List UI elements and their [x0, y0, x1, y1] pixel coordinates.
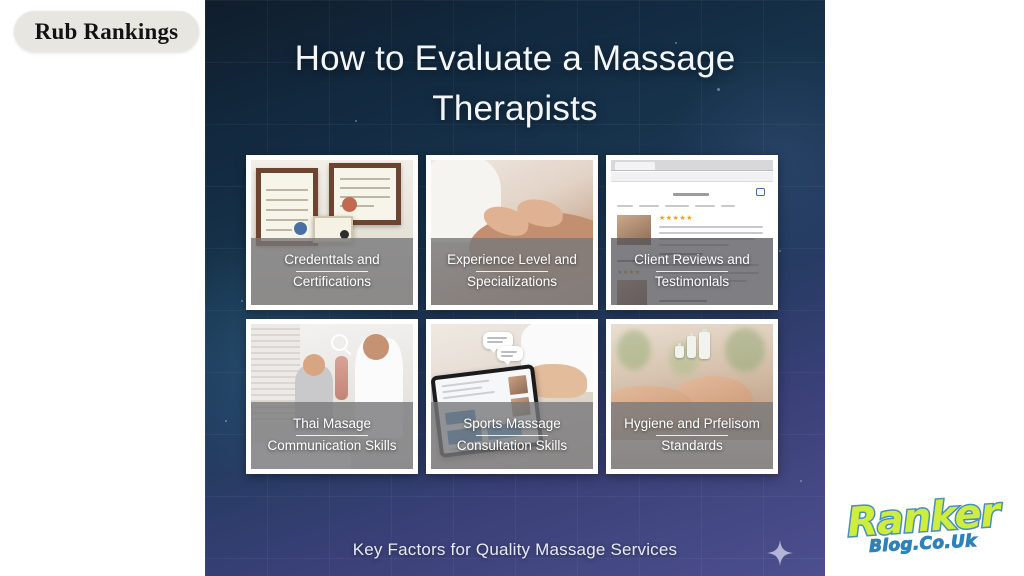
card-caption: Client Reviews and Testimonlals [611, 238, 773, 305]
card-hygiene[interactable]: Hygiene and Prfelisom Standards [606, 319, 778, 474]
anatomy-chart-icon [335, 356, 348, 400]
slide-panel: How to Evaluate a Massage Therapists [205, 0, 825, 576]
card-reviews[interactable]: ★★★★★ ★★★★ Client Reviews and [606, 155, 778, 310]
card-caption: Thai Masage Communication Skills [251, 402, 413, 469]
browser-addressbar[interactable] [611, 172, 773, 182]
watermark-subtitle: Blog.Co.Uk [869, 532, 978, 558]
spa-bottle-icon [699, 332, 710, 359]
search-icon [331, 334, 348, 351]
certificate-frame [256, 168, 318, 246]
card-consultation[interactable]: Sports Massage Consultation Skills [426, 319, 598, 474]
chat-bubble [497, 346, 523, 361]
star-rating: ★★★★★ [659, 215, 693, 222]
caption-divider [656, 271, 728, 273]
card-image-massage-hands: Experience Level and Specializations [431, 160, 593, 305]
caption-line-2: Communication Skills [267, 439, 396, 454]
card-caption: Hygiene and Prfelisom Standards [611, 402, 773, 469]
particle-dot [800, 480, 802, 482]
caption-line-1: Credenttals and [284, 253, 379, 268]
caption-divider [296, 435, 368, 437]
brand-badge: Rub Rankings [14, 11, 199, 52]
card-caption: Experience Level and Specializations [431, 238, 593, 305]
spa-bottle-icon [675, 346, 684, 358]
card-image-browser-reviews: ★★★★★ ★★★★ Client Reviews and [611, 160, 773, 305]
card-grid: Credenttals and Certifications Experienc… [246, 155, 786, 474]
caption-divider [476, 271, 548, 273]
caption-line-2: Testimonlals [655, 275, 729, 290]
caption-divider [476, 435, 548, 437]
browser-tab[interactable] [615, 162, 655, 170]
caption-line-2: Standards [661, 439, 723, 454]
card-caption: Sports Massage Consultation Skills [431, 402, 593, 469]
card-caption: Credenttals and Certifications [251, 238, 413, 305]
camera-icon [756, 188, 765, 196]
plant-blur [725, 328, 765, 372]
card-credentials[interactable]: Credenttals and Certifications [246, 155, 418, 310]
therapist-head [363, 334, 389, 360]
plant-blur [617, 330, 651, 370]
caption-line-2: Specializations [467, 275, 557, 290]
card-image-spa: Hygiene and Prfelisom Standards [611, 324, 773, 469]
watermark-ranker-blog: Ranker Blog.Co.Uk [836, 490, 1010, 564]
page-title: How to Evaluate a Massage Therapists [235, 34, 795, 133]
caption-line-2: Certifications [293, 275, 371, 290]
card-experience[interactable]: Experience Level and Specializations [426, 155, 598, 310]
card-image-tablet: Sports Massage Consultation Skills [431, 324, 593, 469]
particle-dot [225, 420, 227, 422]
card-image-certificates: Credenttals and Certifications [251, 160, 413, 305]
spa-bottle-icon [687, 336, 696, 358]
particle-dot [241, 300, 243, 302]
caption-line-2: Consultation Skills [457, 439, 567, 454]
browser-titlebar [611, 160, 773, 171]
four-point-star-icon [767, 540, 793, 566]
caption-line-1: Thai Masage [293, 417, 371, 432]
caption-line-1: Experience Level and [447, 253, 577, 268]
client-head [303, 354, 325, 376]
caption-divider [656, 435, 728, 437]
card-communication[interactable]: Thai Masage Communication Skills [246, 319, 418, 474]
caption-line-1: Sports Massage [463, 417, 561, 432]
footer-caption: Key Factors for Quality Massage Services [205, 540, 825, 560]
caption-line-1: Hygiene and Prfelisom [624, 417, 760, 432]
caption-line-1: Client Reviews and [634, 253, 750, 268]
caption-divider [296, 271, 368, 273]
card-image-consultation: Thai Masage Communication Skills [251, 324, 413, 469]
brand-badge-label: Rub Rankings [35, 19, 179, 45]
